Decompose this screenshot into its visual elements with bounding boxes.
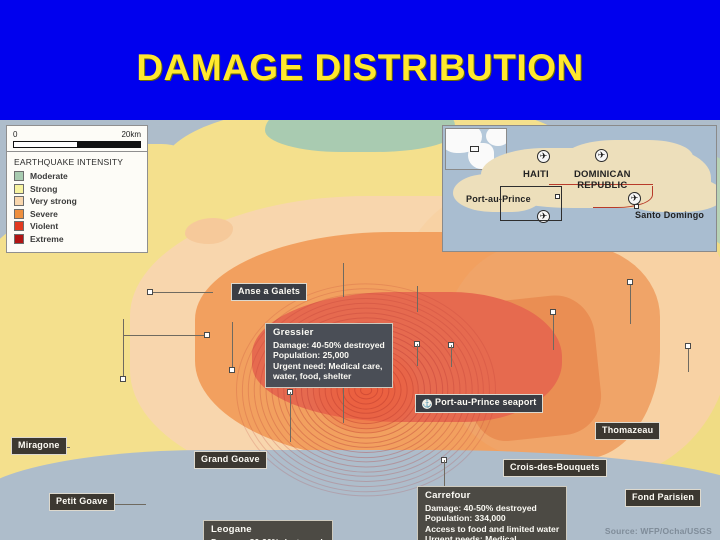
callout-carrefour-line-1: Damage: 40-50% destroyed bbox=[425, 503, 559, 514]
legend-swatch-moderate bbox=[14, 171, 24, 181]
city-marker bbox=[627, 279, 633, 285]
leader-line bbox=[124, 335, 207, 336]
callout-gressier-line-1: Damage: 40-50% destroyed bbox=[273, 340, 385, 351]
city-marker bbox=[147, 289, 153, 295]
slide: DAMAGE DISTRIBUTION Épicentre Magnitude … bbox=[0, 0, 720, 540]
legend-item-moderate: Moderate bbox=[14, 171, 141, 181]
inset-city-marker bbox=[634, 204, 639, 209]
legend-item-extreme: Extreme bbox=[14, 234, 141, 244]
globe-landmass-east bbox=[486, 128, 507, 146]
city-marker bbox=[204, 332, 210, 338]
callout-carrefour-title: Carrefour bbox=[425, 491, 559, 502]
leader-line bbox=[444, 460, 445, 486]
callout-leogane-title: Leogane bbox=[211, 525, 325, 536]
inset-label-santo-domingo: Santo Domingo bbox=[635, 210, 704, 220]
page-title: DAMAGE DISTRIBUTION bbox=[0, 47, 720, 89]
callout-gressier-line-3: Urgent need: Medical care, bbox=[273, 361, 385, 372]
leader-line bbox=[149, 292, 213, 293]
city-marker bbox=[120, 376, 126, 382]
seaport-name: Port-au-Prince bbox=[435, 397, 500, 407]
globe-locator-box bbox=[470, 146, 479, 152]
city-label-grand-goave[interactable]: Grand Goave bbox=[194, 451, 267, 469]
city-label-miragone[interactable]: Miragone bbox=[11, 437, 67, 455]
inset-detail-extent-box bbox=[500, 186, 562, 221]
inset-label-dominican-republic: DOMINICAN REPUBLIC bbox=[574, 169, 631, 191]
inset-label-haiti: HAITI bbox=[523, 169, 549, 180]
title-banner: DAMAGE DISTRIBUTION bbox=[0, 0, 720, 120]
legend-item-severe: Severe bbox=[14, 209, 141, 219]
city-label-petit-goave[interactable]: Petit Goave bbox=[49, 493, 115, 511]
legend-item-violent: Violent bbox=[14, 221, 141, 231]
legend-label-violent: Violent bbox=[30, 221, 58, 231]
seaport-suffix: seaport bbox=[500, 397, 537, 407]
scale-max-label: 20km bbox=[121, 130, 141, 139]
inset-overview-map: HAITI DOMINICAN REPUBLIC Port-au-Prince … bbox=[442, 125, 717, 252]
legend-swatch-severe bbox=[14, 209, 24, 219]
city-marker bbox=[229, 367, 235, 373]
legend-swatch-very-strong bbox=[14, 196, 24, 206]
callout-gressier-title: Gressier bbox=[273, 328, 385, 339]
legend-swatch-violent bbox=[14, 221, 24, 231]
legend-panel: 0 20km EARTHQUAKE INTENSITY Moderate Str… bbox=[6, 125, 148, 253]
scale-bar-segment-white bbox=[14, 142, 78, 147]
scale-bar bbox=[13, 141, 141, 148]
legend-swatch-extreme bbox=[14, 234, 24, 244]
inset-label-dr-line1: DOMINICAN bbox=[574, 169, 631, 180]
callout-gressier[interactable]: Gressier Damage: 40-50% destroyed Popula… bbox=[265, 323, 393, 388]
leader-line bbox=[343, 383, 344, 423]
leader-line bbox=[451, 345, 452, 367]
land-moderate-zone bbox=[265, 120, 455, 152]
source-credit: Source: WFP/Ocha/USGS bbox=[605, 526, 712, 536]
leader-line bbox=[688, 346, 689, 372]
callout-leogane-line-1: Damage: 80-90% destroyed bbox=[211, 537, 325, 540]
legend-label-moderate: Moderate bbox=[30, 171, 68, 181]
leader-line bbox=[417, 286, 418, 312]
city-label-anse-a-galets[interactable]: Anse a Galets bbox=[231, 283, 307, 301]
city-marker bbox=[550, 309, 556, 315]
city-label-crois-des-bouquets[interactable]: Crois-des-Bouquets bbox=[503, 459, 607, 477]
scale-bar-segment-black bbox=[78, 142, 141, 147]
leader-line bbox=[630, 282, 631, 324]
legend-swatch-strong bbox=[14, 184, 24, 194]
leader-line bbox=[553, 312, 554, 350]
scale-min-label: 0 bbox=[13, 130, 17, 139]
anchor-icon: ⚓ bbox=[422, 399, 432, 409]
legend-label-very-strong: Very strong bbox=[30, 196, 77, 206]
callout-carrefour-line-2: Population: 334,000 bbox=[425, 513, 559, 524]
map-canvas: Épicentre Magnitude 7 0 20km EARTHQUAKE … bbox=[0, 120, 720, 540]
leader-line bbox=[417, 344, 418, 366]
callout-carrefour[interactable]: Carrefour Damage: 40-50% destroyed Popul… bbox=[417, 486, 567, 540]
airplane-icon: ✈ bbox=[537, 150, 550, 163]
leader-line bbox=[232, 322, 233, 370]
inset-label-dr-line2: REPUBLIC bbox=[574, 180, 631, 191]
city-marker bbox=[685, 343, 691, 349]
legend-label-extreme: Extreme bbox=[30, 234, 64, 244]
legend-label-severe: Severe bbox=[30, 209, 58, 219]
callout-gressier-line-2: Population: 25,000 bbox=[273, 350, 385, 361]
legend-label-strong: Strong bbox=[30, 184, 57, 194]
scale-bar-group: 0 20km bbox=[7, 126, 147, 152]
legend-items: EARTHQUAKE INTENSITY Moderate Strong Ver… bbox=[7, 152, 147, 252]
legend-heading: EARTHQUAKE INTENSITY bbox=[14, 157, 141, 167]
legend-item-very-strong: Very strong bbox=[14, 196, 141, 206]
city-label-fond-parisien[interactable]: Fond Parisien bbox=[625, 489, 701, 507]
leader-line bbox=[290, 392, 291, 442]
city-label-thomazeau[interactable]: Thomazeau bbox=[595, 422, 660, 440]
callout-gressier-line-4: water, food, shelter bbox=[273, 371, 385, 382]
airplane-icon: ✈ bbox=[595, 149, 608, 162]
leader-line bbox=[343, 263, 344, 297]
leader-line bbox=[123, 319, 124, 379]
legend-item-strong: Strong bbox=[14, 184, 141, 194]
callout-carrefour-line-4: Urgent needs: Medical bbox=[425, 534, 559, 540]
callout-carrefour-line-3: Access to food and limited water bbox=[425, 524, 559, 535]
callout-leogane[interactable]: Leogane Damage: 80-90% destroyed No loca… bbox=[203, 520, 333, 540]
city-label-port-au-prince-seaport[interactable]: ⚓Port-au-Prince seaport bbox=[415, 394, 543, 413]
